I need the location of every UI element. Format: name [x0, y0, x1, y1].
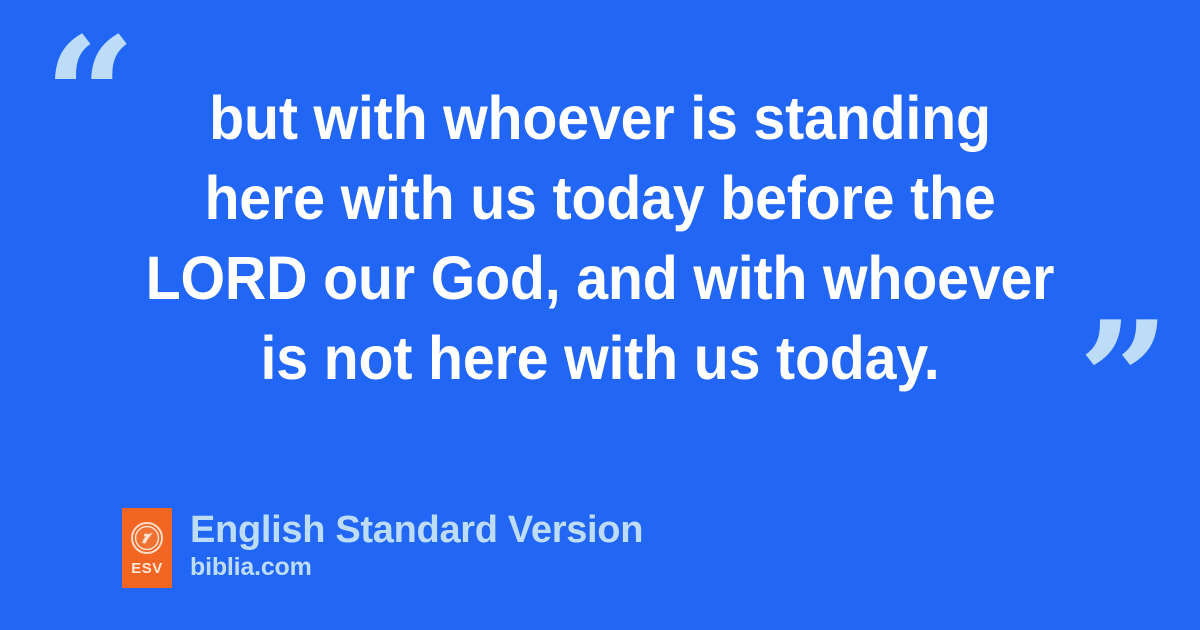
website-label: biblia.com — [190, 553, 643, 581]
attribution-footer: ESV English Standard Version biblia.com — [122, 508, 643, 588]
quote-line: LORD our God, and with whoever — [130, 238, 1070, 318]
quote-card: “ but with whoever is standing here with… — [0, 0, 1200, 630]
esv-badge: ESV — [122, 508, 172, 588]
quote-text: but with whoever is standing here with u… — [100, 78, 1100, 398]
quote-line: but with whoever is standing — [130, 78, 1070, 158]
quote-line: here with us today before the — [130, 158, 1070, 238]
quote-line: is not here with us today. — [130, 318, 1070, 398]
translation-name: English Standard Version — [190, 508, 643, 552]
attribution-text: English Standard Version biblia.com — [190, 508, 643, 581]
esv-seal-icon — [131, 522, 163, 554]
close-quote-icon: ” — [1078, 300, 1170, 460]
esv-badge-label: ESV — [131, 561, 163, 576]
